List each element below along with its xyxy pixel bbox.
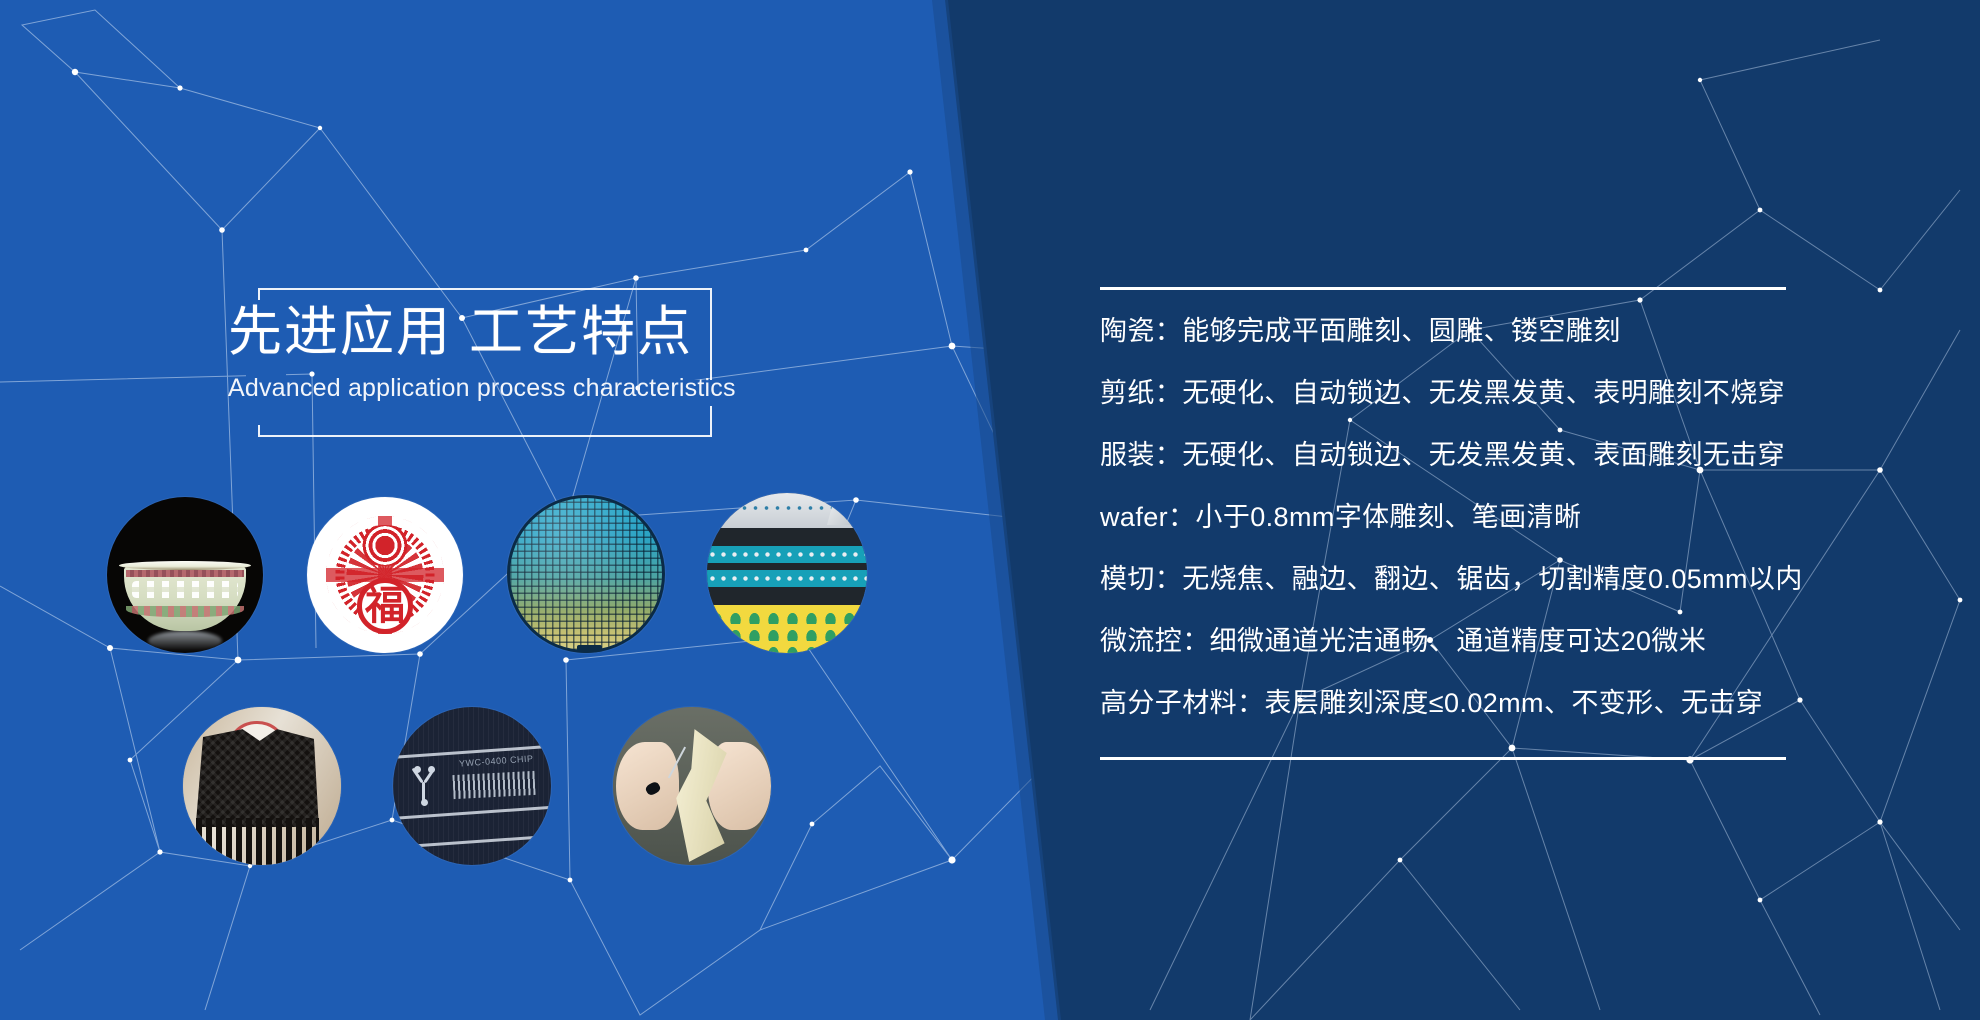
feature-item-wafer: wafer：小于0.8mm字体雕刻、笔画清晰: [1100, 486, 1900, 548]
silicon-wafer-photo: [507, 495, 665, 653]
black-fringed-garment-photo: [183, 707, 341, 865]
feature-list-bottom-rule: [1100, 757, 1786, 760]
feature-item-ceramic: 陶瓷：能够完成平面雕刻、圆雕、镂空雕刻: [1100, 300, 1900, 362]
gallery-image-microfluidic-chip[interactable]: [707, 493, 867, 653]
gallery-image-dark-chip-panel[interactable]: YWC-0400 CHIP: [393, 707, 551, 865]
papercut-fu-photo: 福: [307, 497, 463, 653]
gallery-image-silicon-wafer[interactable]: [507, 495, 665, 653]
feature-item-die-cut: 模切：无烧焦、融边、翻边、锯齿，切割精度0.05mm以内: [1100, 548, 1900, 610]
feature-item-apparel: 服装：无硬化、自动锁边、无发黑发黄、表面雕刻无击穿: [1100, 424, 1900, 486]
gallery-image-film-peel[interactable]: [613, 707, 771, 865]
page-title: 先进应用 工艺特点: [228, 300, 698, 364]
gallery-image-ceramic-bowl[interactable]: [107, 497, 263, 653]
feature-list-top-rule: [1100, 287, 1786, 290]
feature-item-microfluidics: 微流控：细微通道光洁通畅、通道精度可达20微米: [1100, 610, 1900, 672]
page-subtitle: Advanced application process characteris…: [228, 372, 698, 404]
gloved-hands-film-peel-photo: [613, 707, 771, 865]
gallery-image-red-papercut[interactable]: 福: [307, 497, 463, 653]
dark-chip-panel-photo: YWC-0400 CHIP: [393, 707, 551, 865]
gallery-image-black-garment[interactable]: [183, 707, 341, 865]
banner-stage: 先进应用 工艺特点 Advanced application process c…: [0, 0, 1980, 1020]
ceramic-bowl-photo: [107, 497, 263, 653]
feature-list: 陶瓷：能够完成平面雕刻、圆雕、镂空雕刻 剪纸：无硬化、自动锁边、无发黑发黄、表明…: [1100, 300, 1900, 734]
fu-character: 福: [357, 578, 413, 634]
microfluidic-chip-photo: [707, 493, 867, 653]
feature-item-polymer: 高分子材料：表层雕刻深度≤0.02mm、不变形、无击穿: [1100, 672, 1900, 734]
feature-item-papercut: 剪纸：无硬化、自动锁边、无发黑发黄、表明雕刻不烧穿: [1100, 362, 1900, 424]
y-channel-shape: [415, 767, 447, 802]
